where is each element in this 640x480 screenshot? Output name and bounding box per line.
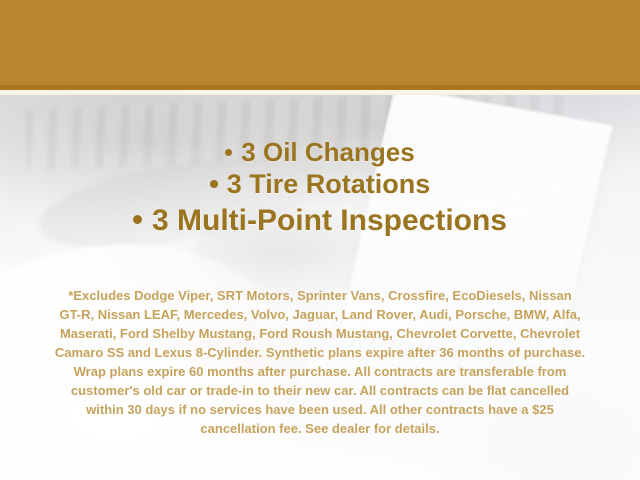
benefits-list: 3 Oil Changes 3 Tire Rotations 3 Multi-P… [0, 136, 640, 239]
disclaimer-text: *Excludes Dodge Viper, SRT Motors, Sprin… [32, 286, 608, 438]
benefit-item-multi-point-inspections: 3 Multi-Point Inspections [0, 202, 640, 239]
header-band-cream-edge [0, 90, 640, 95]
disclaimer-line: *Excludes Dodge Viper, SRT Motors, Sprin… [32, 286, 608, 305]
bullet-dot-icon [133, 215, 142, 224]
header-band [0, 0, 640, 90]
benefit-item-oil-changes: 3 Oil Changes [0, 136, 640, 168]
benefit-item-tire-rotations: 3 Tire Rotations [0, 168, 640, 201]
disclaimer-line: GT-R, Nissan LEAF, Mercedes, Volvo, Jagu… [32, 305, 608, 324]
disclaimer-line: within 30 days if no services have been … [32, 400, 608, 419]
benefit-label: 3 Multi-Point Inspections [152, 204, 507, 237]
disclaimer-line: Maserati, Ford Shelby Mustang, Ford Rous… [32, 324, 608, 343]
disclaimer-line: Camaro SS and Lexus 8-Cylinder. Syntheti… [32, 343, 608, 362]
disclaimer-line: customer's old car or trade-in to their … [32, 381, 608, 400]
benefit-label: 3 Tire Rotations [227, 169, 431, 199]
disclaimer-line: Wrap plans expire 60 months after purcha… [32, 362, 608, 381]
bullet-dot-icon [210, 180, 218, 188]
bullet-dot-icon [225, 149, 232, 156]
disclaimer-line: cancellation fee. See dealer for details… [32, 419, 608, 438]
benefit-label: 3 Oil Changes [241, 137, 414, 167]
extracare-package-promo: ExtraCare Package* 3 Oil Changes 3 Tire … [0, 0, 640, 480]
